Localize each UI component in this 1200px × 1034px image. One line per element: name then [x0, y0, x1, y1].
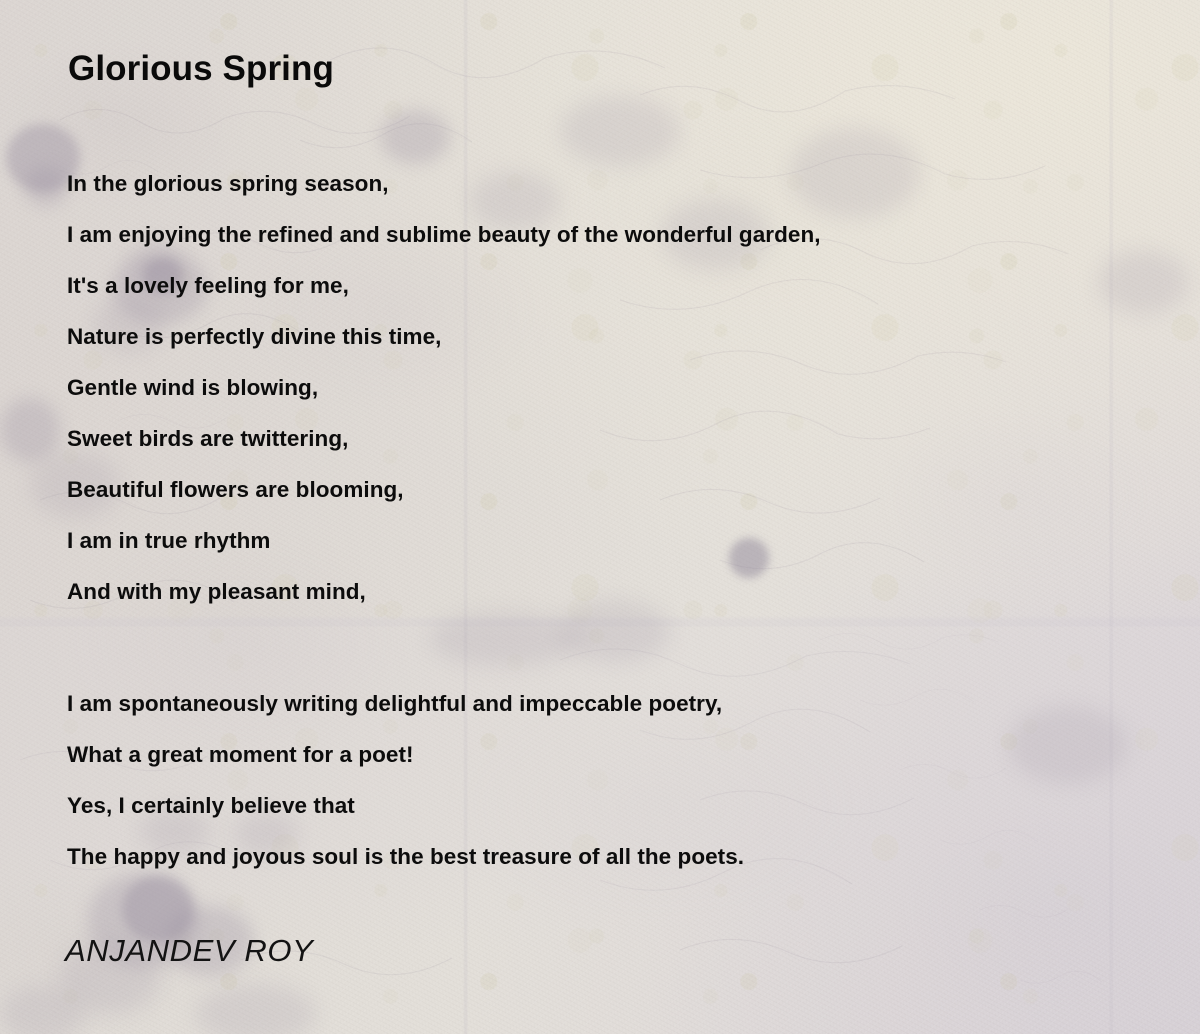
poem-line: Nature is perfectly divine this time,: [67, 311, 821, 362]
poem-line: And with my pleasant mind,: [67, 566, 821, 617]
poem-line: Beautiful flowers are blooming,: [67, 464, 821, 515]
stanza-2: I am spontaneously writing delightful an…: [67, 678, 744, 882]
poem-line: I am spontaneously writing delightful an…: [67, 678, 744, 729]
poem-line: Yes, I certainly believe that: [67, 780, 744, 831]
poem-line: I am enjoying the refined and sublime be…: [67, 209, 821, 260]
poem-line: In the glorious spring season,: [67, 158, 821, 209]
poem-line: The happy and joyous soul is the best tr…: [67, 831, 744, 882]
poem-image-card: Glorious Spring In the glorious spring s…: [0, 0, 1200, 1034]
stanza-1: In the glorious spring season, I am enjo…: [67, 158, 821, 617]
author-signature: ANJANDEV ROY: [65, 933, 313, 969]
page-title: Glorious Spring: [68, 50, 334, 89]
poem-line: Gentle wind is blowing,: [67, 362, 821, 413]
poem-line: I am in true rhythm: [67, 515, 821, 566]
poem-line: Sweet birds are twittering,: [67, 413, 821, 464]
poem-line: It's a lovely feeling for me,: [67, 260, 821, 311]
poem-content: Glorious Spring In the glorious spring s…: [0, 0, 1200, 1034]
poem-line: What a great moment for a poet!: [67, 729, 744, 780]
